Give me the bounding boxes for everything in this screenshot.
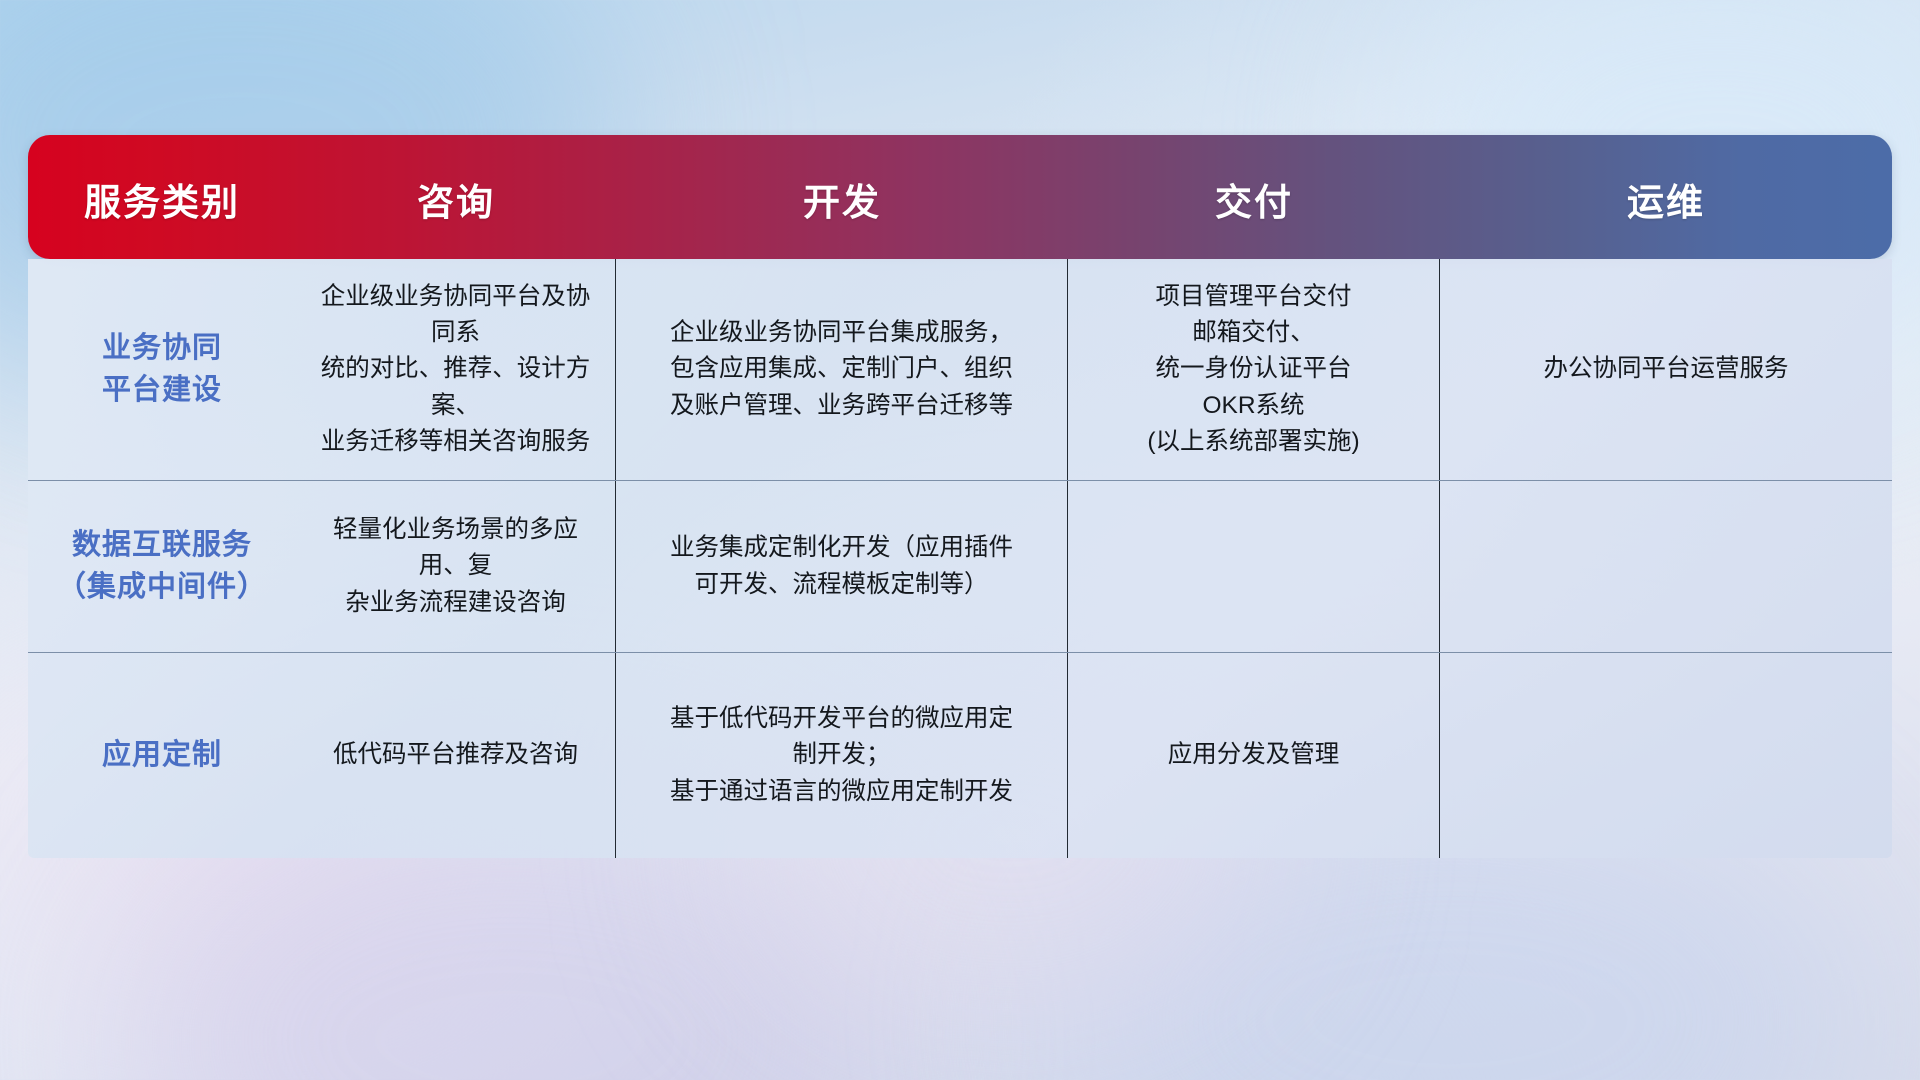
cell-category: 数据互联服务 （集成中间件） [28,481,296,652]
header-consulting: 咨询 [296,135,616,259]
cell-delivery: 项目管理平台交付 邮箱交付、 统一身份认证平台 OKR系统 (以上系统部署实施) [1068,259,1440,480]
table-header-row: 服务类别 咨询 开发 交付 运维 [28,135,1892,259]
cell-delivery [1068,481,1440,652]
header-service-category: 服务类别 [28,135,296,259]
cell-operations: 办公协同平台运营服务 [1440,259,1892,480]
cell-consulting: 低代码平台推荐及咨询 [296,653,616,858]
service-matrix-table: 服务类别 咨询 开发 交付 运维 业务协同 平台建设 企业级业务协同平台及协同系… [28,135,1892,858]
table-row: 业务协同 平台建设 企业级业务协同平台及协同系 统的对比、推荐、设计方案、 业务… [28,259,1892,481]
cell-delivery: 应用分发及管理 [1068,653,1440,858]
header-operations: 运维 [1440,135,1892,259]
cell-consulting: 企业级业务协同平台及协同系 统的对比、推荐、设计方案、 业务迁移等相关咨询服务 [296,259,616,480]
cell-consulting: 轻量化业务场景的多应用、复 杂业务流程建设咨询 [296,481,616,652]
cell-operations [1440,653,1892,858]
cell-category: 业务协同 平台建设 [28,259,296,480]
cell-development: 业务集成定制化开发（应用插件 可开发、流程模板定制等） [616,481,1068,652]
header-delivery: 交付 [1068,135,1440,259]
cell-category: 应用定制 [28,653,296,858]
header-development: 开发 [616,135,1068,259]
cell-development: 基于低代码开发平台的微应用定 制开发； 基于通过语言的微应用定制开发 [616,653,1068,858]
table-body: 业务协同 平台建设 企业级业务协同平台及协同系 统的对比、推荐、设计方案、 业务… [28,259,1892,858]
table-row: 数据互联服务 （集成中间件） 轻量化业务场景的多应用、复 杂业务流程建设咨询 业… [28,481,1892,653]
cell-development: 企业级业务协同平台集成服务， 包含应用集成、定制门户、组织 及账户管理、业务跨平… [616,259,1068,480]
cell-operations [1440,481,1892,652]
table-row: 应用定制 低代码平台推荐及咨询 基于低代码开发平台的微应用定 制开发； 基于通过… [28,653,1892,858]
